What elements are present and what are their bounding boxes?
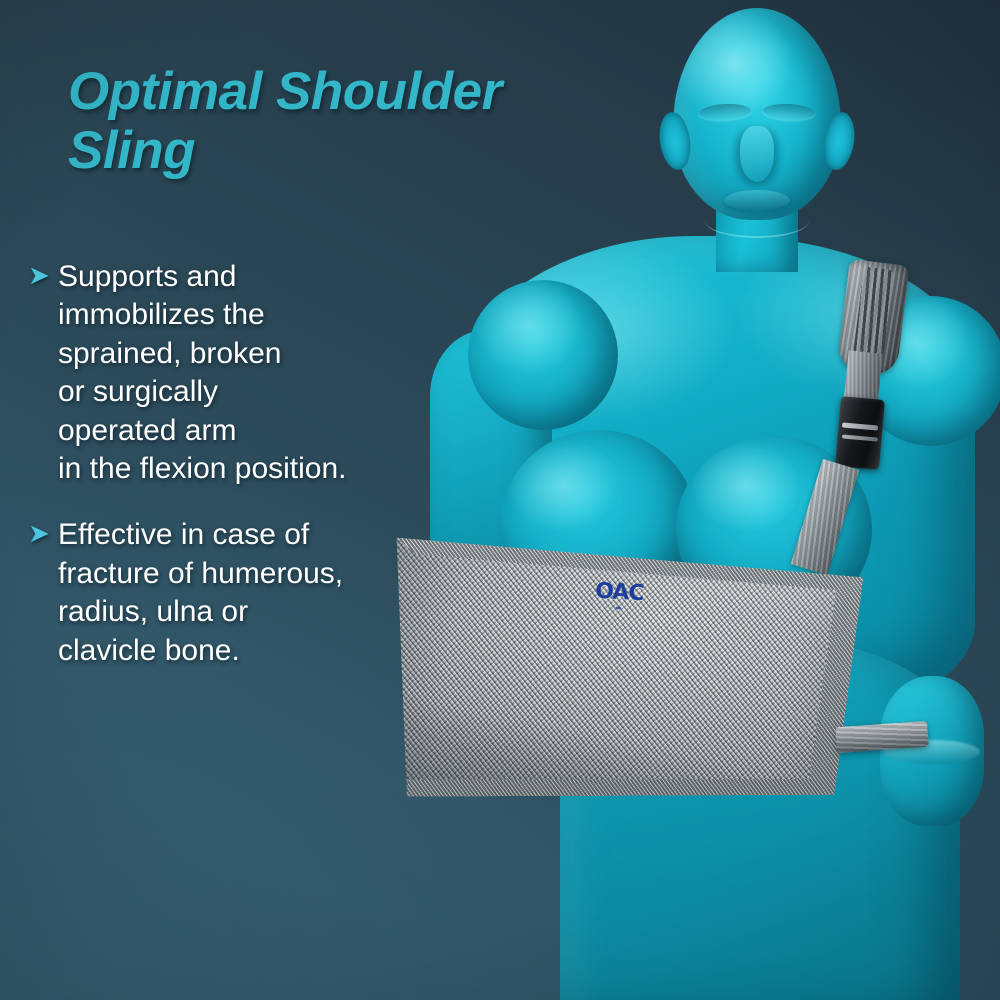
page-title: Optimal Shoulder Sling <box>68 62 588 181</box>
feature-item-2: ➤ Effective in case of fracture of humer… <box>28 516 498 670</box>
webbing-strap-lower <box>791 459 860 575</box>
feature-item-1: ➤ Supports and immobilizes the sprained,… <box>28 258 498 488</box>
feature-text-1: Supports and immobilizes the sprained, b… <box>58 258 498 488</box>
copy-block: Optimal Shoulder Sling ➤ Supports and im… <box>0 0 520 1000</box>
waist-strap <box>835 721 929 753</box>
feature-text-2: Effective in case of fracture of humerou… <box>58 516 498 670</box>
feature-list: ➤ Supports and immobilizes the sprained,… <box>28 258 498 698</box>
arrow-bullet-icon: ➤ <box>28 518 58 549</box>
arrow-bullet-icon: ➤ <box>28 260 58 291</box>
product-marketing-image: OAC ▬ Optimal Shoulder Sling ➤ Supports … <box>0 0 1000 1000</box>
strap-buckle <box>835 396 885 470</box>
